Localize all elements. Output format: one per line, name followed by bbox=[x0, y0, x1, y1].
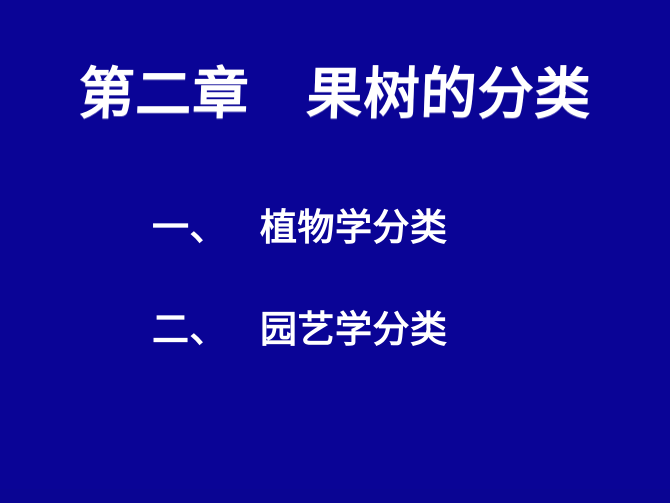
presentation-slide: 第二章 果树的分类 一、 植物学分类 二、 园艺学分类 bbox=[0, 0, 670, 503]
list-item: 一、 植物学分类 bbox=[0, 206, 670, 250]
page-title: 第二章 果树的分类 bbox=[0, 66, 670, 123]
list-item: 二、 园艺学分类 bbox=[0, 308, 670, 352]
list-item-marker: 二、 bbox=[152, 308, 227, 352]
list-item-marker: 一、 bbox=[152, 206, 227, 250]
slide-outline-list: 一、 植物学分类 二、 园艺学分类 bbox=[0, 206, 670, 351]
list-item-label: 植物学分类 bbox=[260, 206, 448, 250]
list-item-label: 园艺学分类 bbox=[260, 308, 448, 352]
